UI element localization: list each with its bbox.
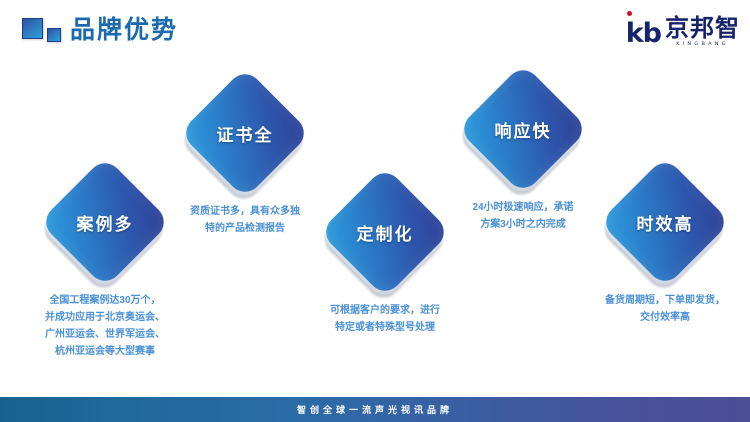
feature-caption-2: 资质证书多，具有众多独 特的产品检测报告 bbox=[148, 203, 342, 237]
caption-line: 特定或者特殊型号处理 bbox=[288, 319, 482, 336]
slide-root: 品牌优势 kb 京邦智 KINGBANG 案例多 全国工程案例达30万个， 并成… bbox=[0, 0, 750, 422]
footer-slogan: 智创全球一流声光视讯品牌 bbox=[297, 404, 453, 416]
caption-line: 并成功应用于北京奥运会、 bbox=[8, 309, 202, 326]
feature-caption-1: 全国工程案例达30万个， 并成功应用于北京奥运会、 广州亚运会、世界军运会、 杭… bbox=[8, 292, 202, 360]
caption-line: 方案3小时之内完成 bbox=[426, 216, 620, 233]
caption-line: 特的产品检测报告 bbox=[148, 220, 342, 237]
caption-line: 资质证书多，具有众多独 bbox=[148, 203, 342, 220]
caption-line: 交付效率高 bbox=[568, 309, 750, 326]
diamond-2-label: 证书全 bbox=[185, 120, 305, 146]
feature-caption-5: 备货周期短，下单即发货， 交付效率高 bbox=[568, 292, 750, 326]
diamond-1-label: 案例多 bbox=[45, 209, 165, 235]
slide-footer: 智创全球一流声光视讯品牌 bbox=[0, 397, 750, 422]
diamond-stage: 案例多 全国工程案例达30万个， 并成功应用于北京奥运会、 广州亚运会、世界军运… bbox=[0, 0, 750, 422]
caption-line: 杭州亚运会等大型赛事 bbox=[8, 343, 202, 360]
diamond-4-label: 响应快 bbox=[463, 116, 583, 142]
caption-line: 可根据客户的要求，进行 bbox=[288, 302, 482, 319]
caption-line: 广州亚运会、世界军运会、 bbox=[8, 326, 202, 343]
caption-line: 备货周期短，下单即发货， bbox=[568, 292, 750, 309]
caption-line: 24小时极速响应，承诺 bbox=[426, 199, 620, 216]
diamond-5-label: 时效高 bbox=[605, 209, 725, 235]
caption-line: 全国工程案例达30万个， bbox=[8, 292, 202, 309]
feature-caption-3: 可根据客户的要求，进行 特定或者特殊型号处理 bbox=[288, 302, 482, 336]
feature-caption-4: 24小时极速响应，承诺 方案3小时之内完成 bbox=[426, 199, 620, 233]
